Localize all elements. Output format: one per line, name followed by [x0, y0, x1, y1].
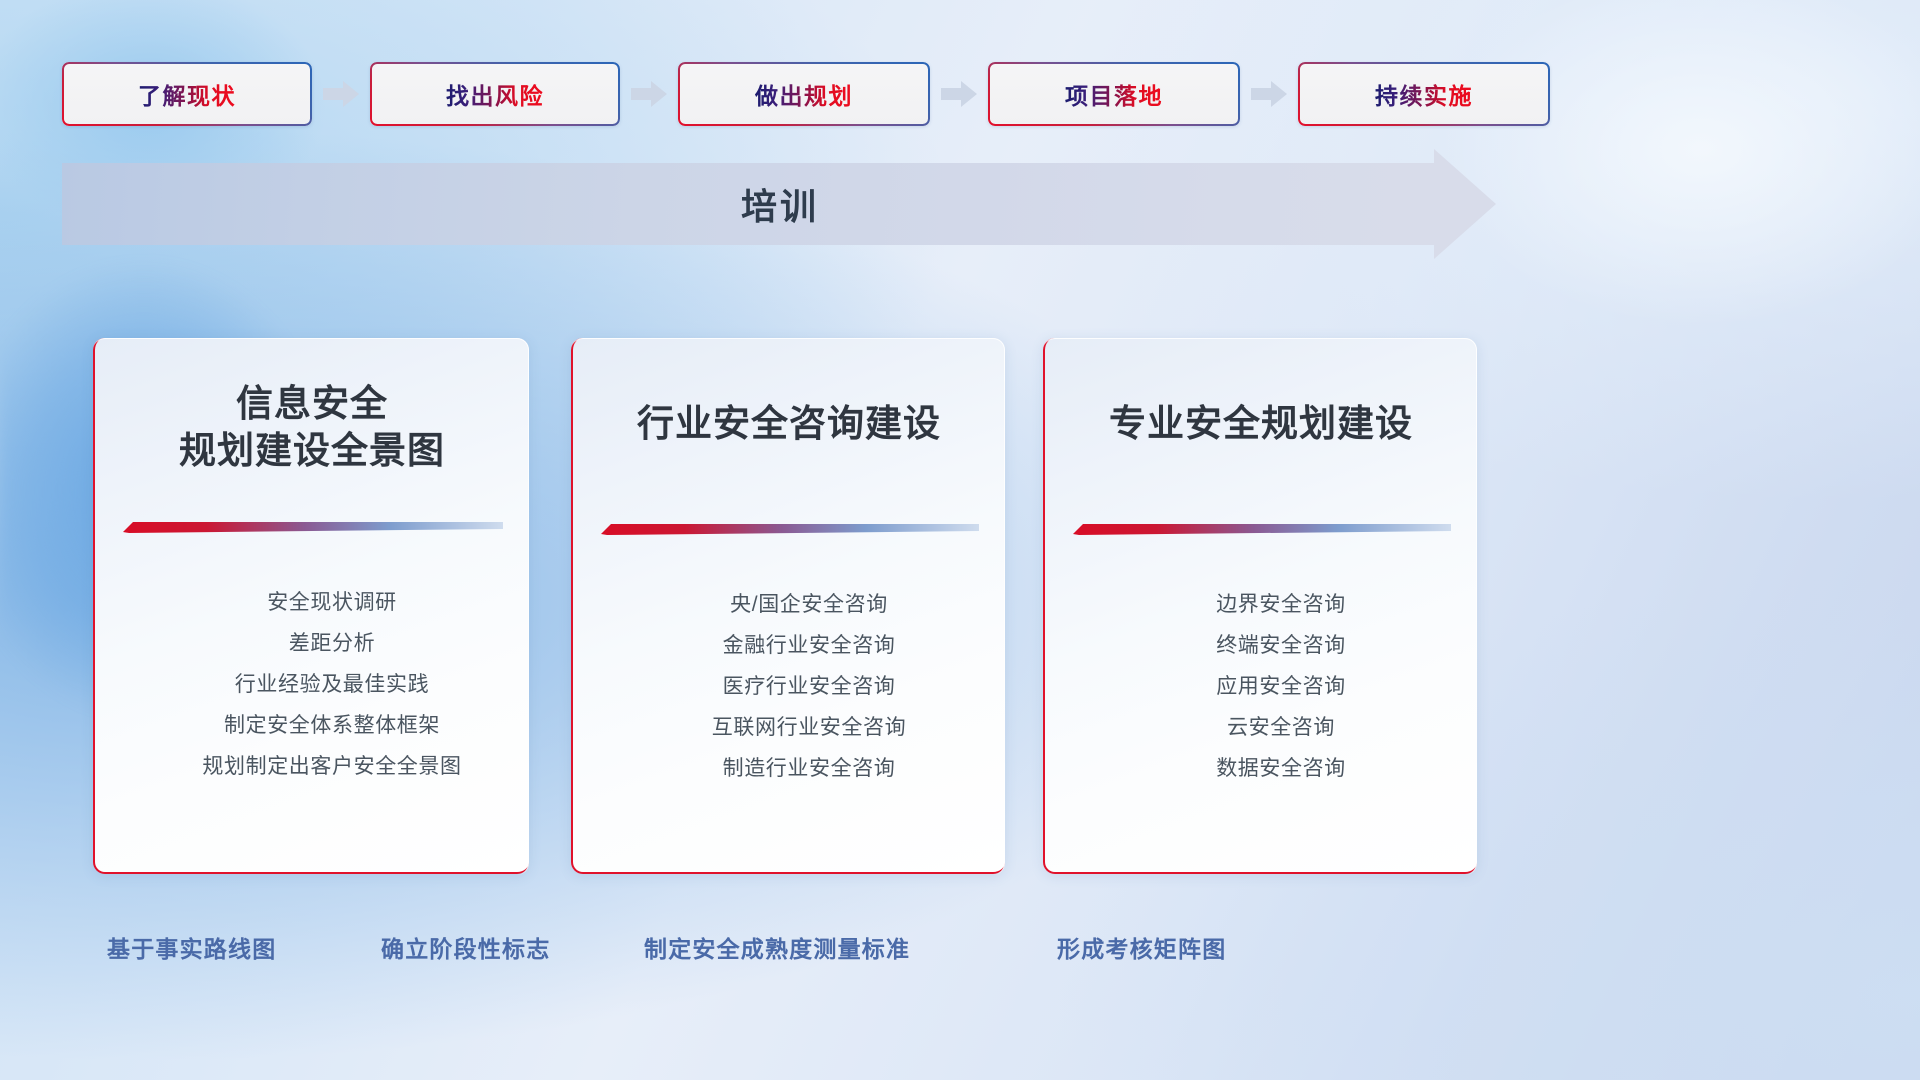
card-1-title: 信息安全 规划建设全景图 — [95, 380, 529, 475]
footer-label-1: 基于事实路线图 — [107, 930, 276, 964]
list-item: 数据安全咨询 — [1085, 758, 1477, 779]
list-item: 边界安全咨询 — [1085, 594, 1477, 615]
list-item: 安全现状调研 — [135, 592, 529, 613]
list-item: 规划制定出客户安全全景图 — [135, 756, 529, 777]
card-1-list: 安全现状调研 差距分析 行业经验及最佳实践 制定安全体系整体框架 规划制定出客户… — [95, 592, 529, 777]
card-3-title-line-1: 专业安全规划建设 — [1045, 400, 1477, 447]
list-item: 云安全咨询 — [1085, 717, 1477, 738]
step-box-1[interactable]: 了解现状 — [62, 62, 312, 126]
footer-label-row: 基于事实路线图 确立阶段性标志 制定安全成熟度测量标准 形成考核矩阵图 — [0, 930, 1920, 980]
footer-label-4: 形成考核矩阵图 — [1057, 930, 1226, 964]
step-label-5: 持续实施 — [1375, 77, 1473, 111]
card-1-divider — [123, 521, 503, 534]
training-banner: 培训 — [62, 163, 1498, 245]
list-item: 制造行业安全咨询 — [613, 758, 1005, 779]
step-box-3[interactable]: 做出规划 — [678, 62, 930, 126]
step-label-4: 项目落地 — [1065, 77, 1163, 111]
list-item: 制定安全体系整体框架 — [135, 715, 529, 736]
card-1-title-line-2: 规划建设全景图 — [95, 427, 529, 474]
list-item: 终端安全咨询 — [1085, 635, 1477, 656]
step-label-3: 做出规划 — [755, 77, 853, 111]
card-3-list: 边界安全咨询 终端安全咨询 应用安全咨询 云安全咨询 数据安全咨询 — [1045, 594, 1477, 779]
card-2-title-line-1: 行业安全咨询建设 — [573, 400, 1005, 447]
footer-label-3: 制定安全成熟度测量标准 — [644, 930, 910, 964]
list-item: 央/国企安全咨询 — [613, 594, 1005, 615]
step-box-4[interactable]: 项目落地 — [988, 62, 1240, 126]
card-3-title: 专业安全规划建设 — [1045, 400, 1477, 447]
card-row: 信息安全 规划建设全景图 安全现状调研 差距分析 行业经验及最佳实践 制定安全体… — [0, 338, 1920, 872]
list-item: 医疗行业安全咨询 — [613, 676, 1005, 697]
list-item: 差距分析 — [135, 633, 529, 654]
card-3[interactable]: 专业安全规划建设 边界安全咨询 终端安全咨询 应用安全咨询 云安全咨询 数据安全… — [1043, 338, 1477, 874]
step-box-2[interactable]: 找出风险 — [370, 62, 620, 126]
footer-label-2: 确立阶段性标志 — [381, 930, 550, 964]
process-step-flow: 了解现状 找出风险 做出规划 项目落地 持续实施 — [62, 62, 1858, 126]
card-1[interactable]: 信息安全 规划建设全景图 安全现状调研 差距分析 行业经验及最佳实践 制定安全体… — [93, 338, 529, 874]
card-2-divider — [601, 523, 979, 536]
list-item: 行业经验及最佳实践 — [135, 674, 529, 695]
list-item: 金融行业安全咨询 — [613, 635, 1005, 656]
banner-label: 培训 — [62, 163, 1498, 245]
arrow-right-icon — [1251, 81, 1287, 107]
arrow-right-icon — [323, 81, 359, 107]
card-2-title: 行业安全咨询建设 — [573, 400, 1005, 447]
card-3-divider — [1073, 523, 1451, 536]
arrow-right-icon — [631, 81, 667, 107]
list-item: 应用安全咨询 — [1085, 676, 1477, 697]
card-1-title-line-1: 信息安全 — [95, 380, 529, 427]
step-box-5[interactable]: 持续实施 — [1298, 62, 1550, 126]
card-2[interactable]: 行业安全咨询建设 央/国企安全咨询 金融行业安全咨询 医疗行业安全咨询 互联网行… — [571, 338, 1005, 874]
arrow-right-icon — [941, 81, 977, 107]
step-label-1: 了解现状 — [138, 77, 236, 111]
list-item: 互联网行业安全咨询 — [613, 717, 1005, 738]
card-2-list: 央/国企安全咨询 金融行业安全咨询 医疗行业安全咨询 互联网行业安全咨询 制造行… — [573, 594, 1005, 779]
step-label-2: 找出风险 — [446, 77, 544, 111]
